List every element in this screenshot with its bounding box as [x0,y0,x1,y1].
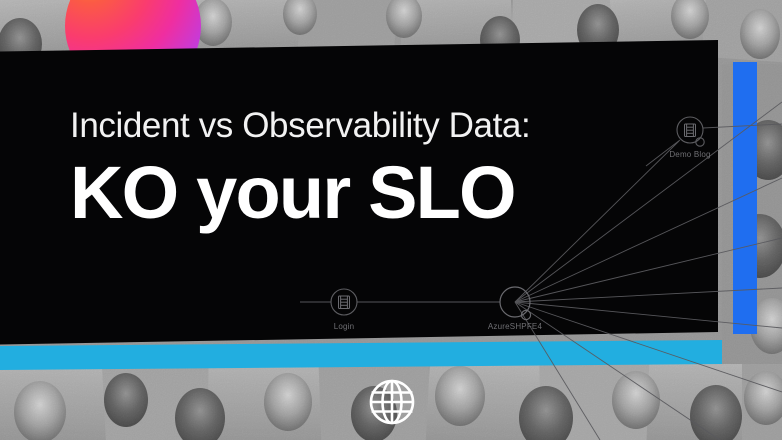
slide-canvas: Demo Blog Login AzureSHPFE4 Incident vs … [0,0,782,440]
globe-icon [366,376,418,428]
node-label-hub: AzureSHPFE4 [488,322,542,331]
headline-text: KO your SLO [70,155,530,230]
node-label-login: Login [334,322,355,331]
node-label-demo-blog: Demo Blog [669,150,710,159]
blue-accent-bar [733,62,757,334]
title-block: Incident vs Observability Data: KO your … [70,108,530,230]
eyebrow-text: Incident vs Observability Data: [70,108,530,145]
